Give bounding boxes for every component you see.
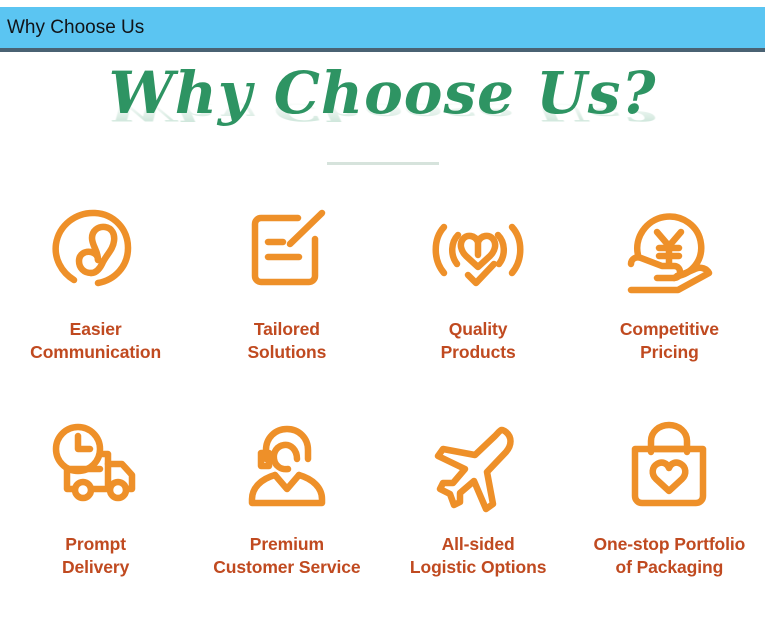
feature-item-easier-communication: Easier Communication (0, 194, 191, 413)
airplane-icon (430, 413, 526, 521)
document-pen-icon (239, 194, 335, 306)
hand-yen-coin-icon (621, 194, 717, 306)
feature-item-logistic-options: All-sided Logistic Options (383, 413, 574, 628)
page-title: Why Choose Us? (109, 64, 657, 122)
heart-soundwave-check-icon (430, 194, 526, 306)
feature-item-premium-customer-service: Premium Customer Service (191, 413, 382, 628)
truck-clock-icon (48, 413, 144, 521)
heading-divider (327, 162, 439, 165)
ear-listening-icon (48, 194, 144, 306)
headset-person-icon (239, 413, 335, 521)
slide-content: Why Choose Us? Why Choose Us? Easier Com… (0, 56, 765, 599)
feature-item-packaging-portfolio: One-stop Portfolio of Packaging (574, 413, 765, 628)
feature-label: One-stop Portfolio of Packaging (593, 533, 745, 579)
window-title-bar: Why Choose Us (0, 7, 765, 52)
shopping-bag-heart-icon (621, 413, 717, 521)
feature-label: Easier Communication (30, 318, 161, 364)
feature-grid: Easier Communication Tailored Solutions (0, 194, 765, 628)
feature-item-quality-products: Quality Products (383, 194, 574, 413)
feature-label: Tailored Solutions (247, 318, 326, 364)
slide-heading-block: Why Choose Us? Why Choose Us? (0, 64, 765, 159)
feature-item-competitive-pricing: Competitive Pricing (574, 194, 765, 413)
feature-item-tailored-solutions: Tailored Solutions (191, 194, 382, 413)
feature-label: Competitive Pricing (620, 318, 719, 364)
feature-label: All-sided Logistic Options (410, 533, 546, 579)
window-title: Why Choose Us (7, 17, 144, 39)
feature-label: Quality Products (441, 318, 516, 364)
feature-item-prompt-delivery: Prompt Delivery (0, 413, 191, 628)
feature-label: Prompt Delivery (62, 533, 129, 579)
feature-label: Premium Customer Service (213, 533, 360, 579)
